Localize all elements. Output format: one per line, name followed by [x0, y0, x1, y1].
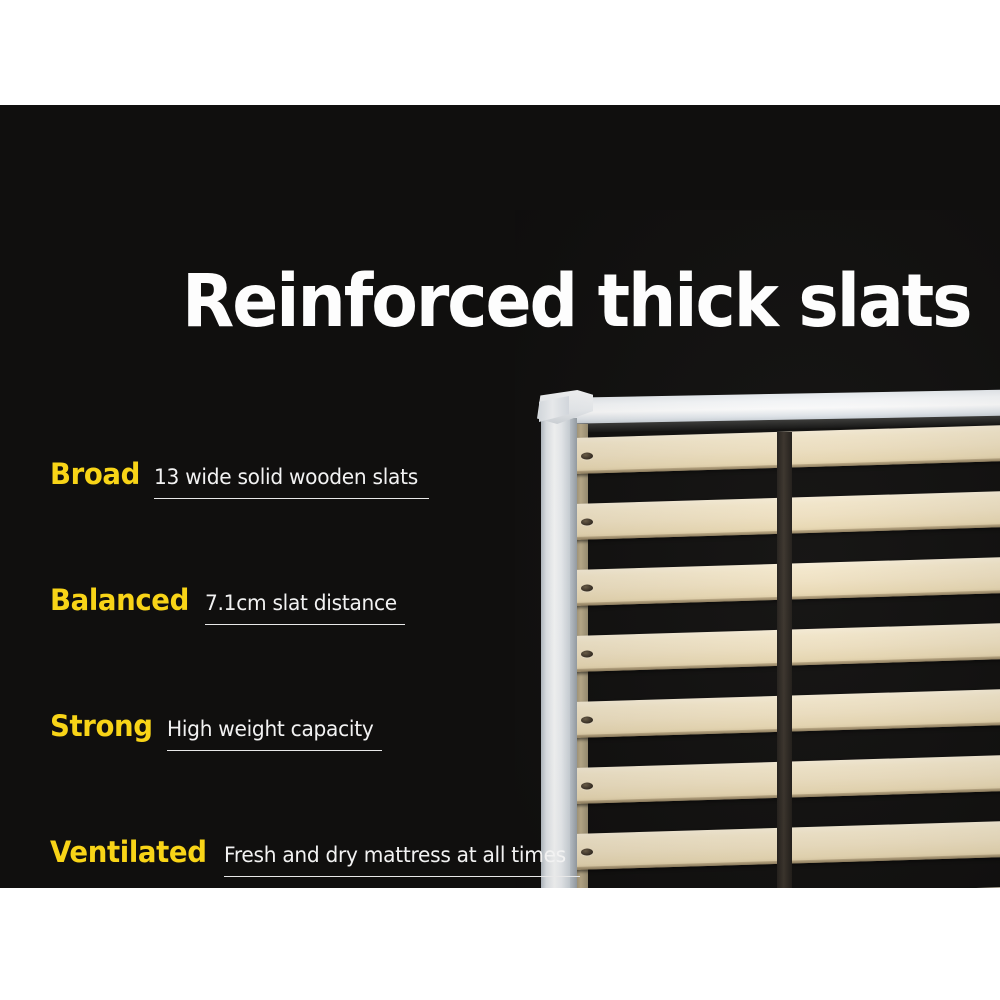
feature-term: Broad	[50, 457, 140, 491]
slat-screw	[581, 518, 593, 525]
feature-description: Fresh and dry mattress at all times	[224, 843, 566, 867]
slat-screw	[581, 716, 593, 723]
feature-description-underline: 7.1cm slat distance	[205, 591, 405, 625]
feature-item-broad: Broad 13 wide solid wooden slats	[50, 457, 570, 583]
feature-description-underline: Fresh and dry mattress at all times	[224, 843, 580, 877]
black-content-panel: Reinforced thick slats Broad 13 wide sol…	[0, 105, 1000, 888]
slat-screw	[581, 584, 593, 591]
page-title: Reinforced thick slats	[182, 265, 971, 338]
feature-item-ventilated: Ventilated Fresh and dry mattress at all…	[50, 835, 570, 888]
slat-screw	[581, 848, 593, 855]
slat-screw	[581, 452, 593, 459]
feature-description-underline: High weight capacity	[167, 717, 382, 751]
feature-term: Balanced	[50, 583, 189, 617]
feature-item-balanced: Balanced 7.1cm slat distance	[50, 583, 570, 709]
feature-description: 7.1cm slat distance	[205, 591, 397, 615]
bed-frame-post-edge	[570, 418, 577, 888]
feature-description-underline: 13 wide solid wooden slats	[154, 465, 429, 499]
feature-description: High weight capacity	[167, 717, 373, 741]
feature-term: Strong	[50, 709, 153, 743]
slat-screw	[581, 650, 593, 657]
feature-item-strong: Strong High weight capacity	[50, 709, 570, 835]
slat-screw	[581, 782, 593, 789]
slat-support-strap	[777, 432, 792, 888]
feature-list: Broad 13 wide solid wooden slats Balance…	[50, 457, 570, 888]
feature-term: Ventilated	[50, 835, 207, 869]
feature-description: 13 wide solid wooden slats	[154, 465, 418, 489]
product-feature-graphic: Reinforced thick slats Broad 13 wide sol…	[0, 0, 1000, 1000]
